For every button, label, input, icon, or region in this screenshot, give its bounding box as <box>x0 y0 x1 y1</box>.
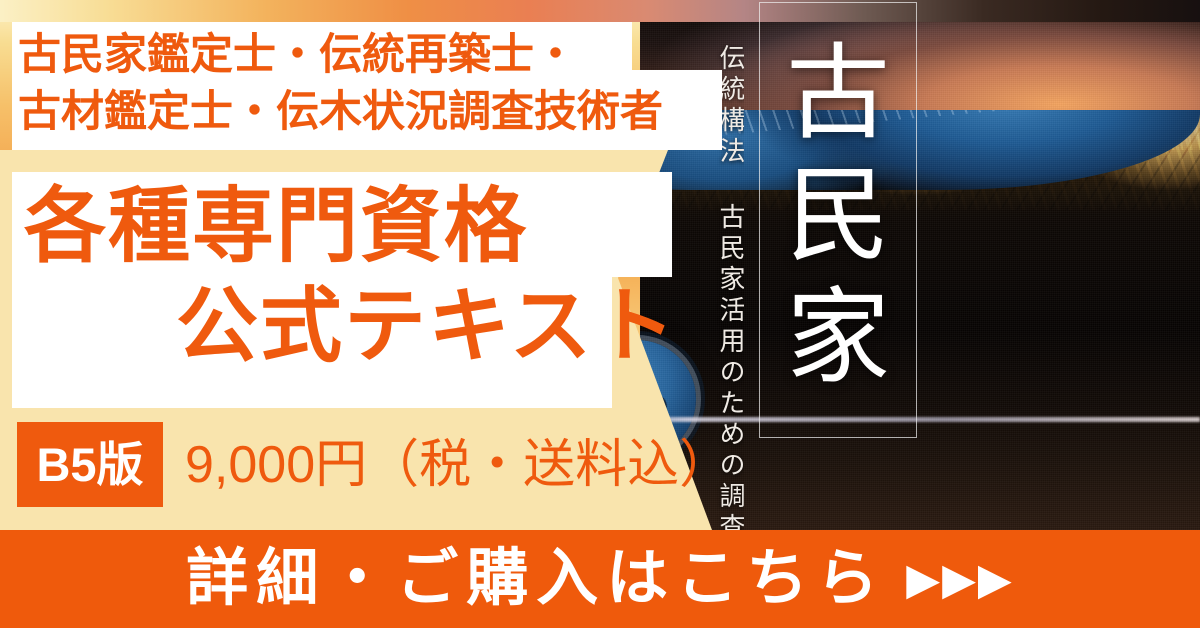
headline-line-2: 古材鑑定士・伝木状況調査技術者 <box>18 84 718 141</box>
book-title-char-3: 家 <box>786 290 890 386</box>
book-title-char-1: 古 <box>786 46 890 142</box>
price-label: 9,000円（税・送料込） <box>185 439 731 491</box>
main-title-line-2: 公式テキスト <box>176 286 678 368</box>
book-title-char-2: 民 <box>786 168 890 264</box>
main-title-line-1: 各種専門資格 <box>24 186 528 268</box>
cta-button[interactable]: 詳細・ご購入はこちら ▶▶▶ <box>0 530 1200 628</box>
headline-line-1: 古民家鑑定士・伝統再築士・ <box>18 27 718 84</box>
book-cover-title: 古 民 家 <box>759 2 917 438</box>
top-gradient-strip <box>0 0 1200 22</box>
triple-right-arrow-icon: ▶▶▶ <box>906 558 1014 602</box>
cta-label: 詳細・ご購入はこちら <box>186 548 886 610</box>
qualification-headline: 古民家鑑定士・伝統再築士・ 古材鑑定士・伝木状況調査技術者 <box>18 27 718 141</box>
format-badge: B5版 <box>17 422 163 507</box>
banner-root: 伝統構法 古民家活用のための調査と再生の 古 民 家 古民家鑑定士・伝統再築士・… <box>0 0 1200 628</box>
price-row: B5版 9,000円（税・送料込） <box>17 422 731 507</box>
